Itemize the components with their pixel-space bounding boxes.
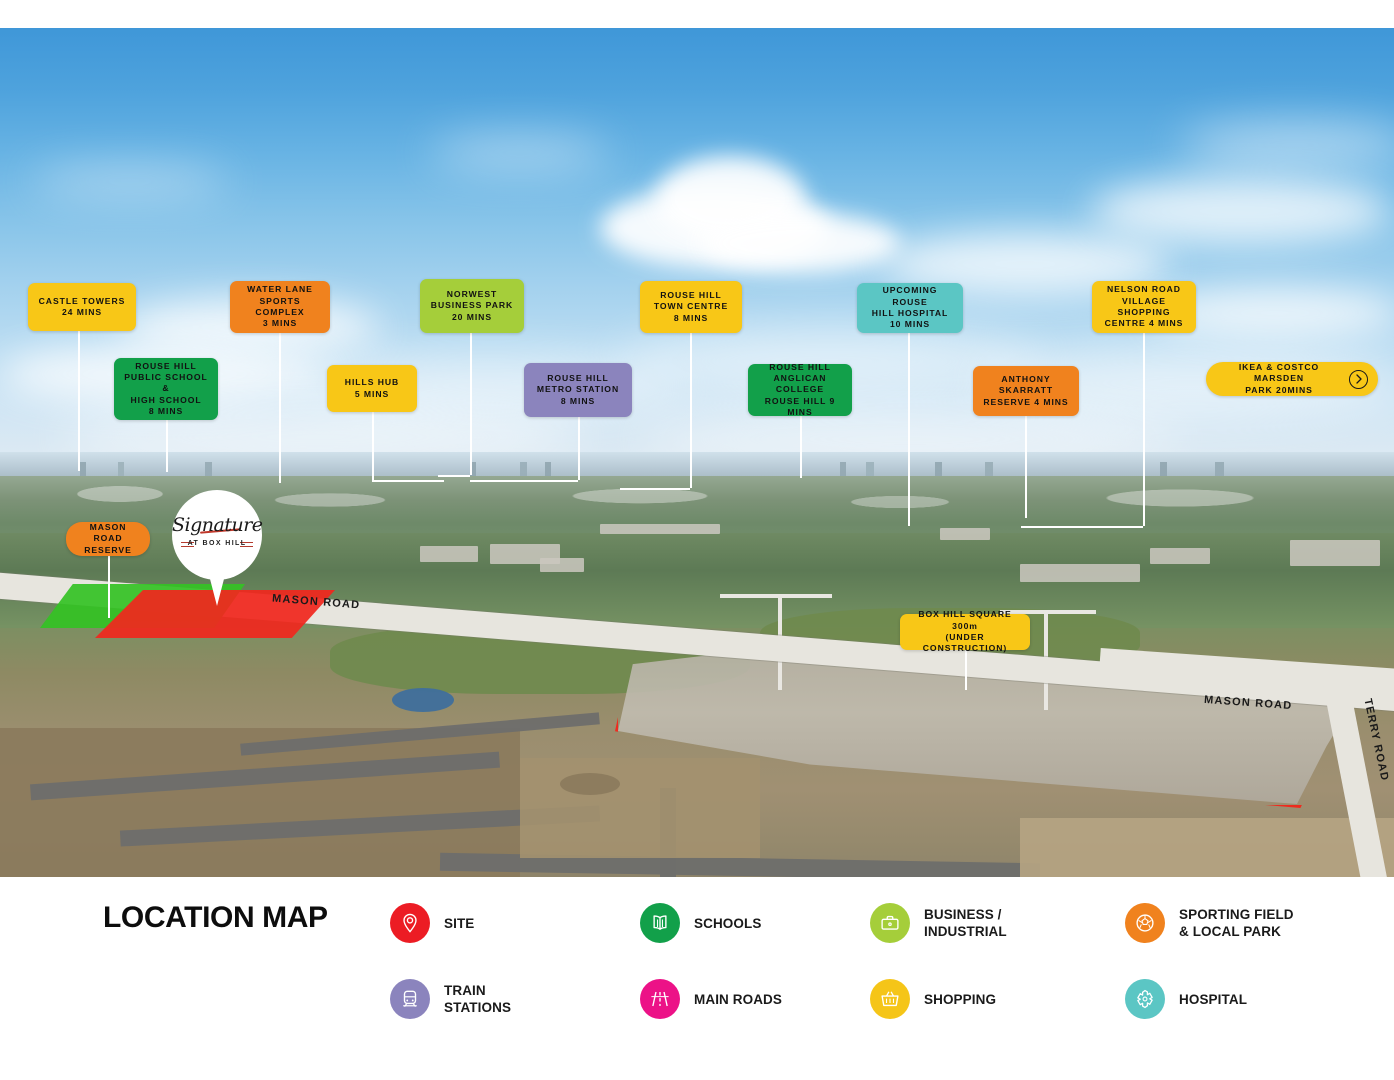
legend-shopping[interactable]: SHOPPING [870, 961, 1125, 1037]
aerial-photo: MASON ROADMASON ROADTERRY ROAD CASTLE TO… [0, 28, 1394, 877]
box-hill-square-label[interactable]: BOX HILL SQUARE 300m (UNDER CONSTRUCTION… [900, 614, 1030, 650]
briefcase-icon [870, 903, 910, 943]
brand-sub-text: AT BOX HILL [172, 540, 262, 547]
building-block [1150, 548, 1210, 564]
rouse-hill-public-high-label[interactable]: ROUSE HILL PUBLIC SCHOOL & HIGH SCHOOL 8… [114, 358, 218, 420]
rouse-hill-metro-station-label[interactable]: ROUSE HILL METRO STATION 8 MINS [524, 363, 632, 417]
hills-hub-label[interactable]: HILLS HUB 5 MINS [327, 365, 417, 412]
map-pin-icon [390, 903, 430, 943]
building-block [540, 558, 584, 572]
hills-hub-leader-line [372, 412, 374, 480]
nelson-road-village-leader-elbow [1021, 526, 1143, 528]
cloud [30, 168, 230, 194]
box-hill-square-label-text: BOX HILL SQUARE 300m (UNDER CONSTRUCTION… [910, 609, 1020, 654]
ikea-costco-label-text: IKEA & COSTCO MARSDEN PARK 20MINS [1216, 362, 1342, 396]
anthony-skarratt-reserve-label-text: ANTHONY SKARRATT RESERVE 4 MINS [983, 374, 1069, 408]
basket-icon [870, 979, 910, 1019]
building-block [600, 524, 720, 534]
castle-towers-label[interactable]: CASTLE TOWERS 24 MINS [28, 283, 136, 331]
rouse-hill-town-centre-label-text: ROUSE HILL TOWN CENTRE 8 MINS [654, 290, 728, 324]
water-lane-sports-complex-label[interactable]: WATER LANE SPORTS COMPLEX 3 MINS [230, 281, 330, 333]
earthworks [520, 758, 760, 858]
book-icon [640, 903, 680, 943]
legend-footer: LOCATION MAP SITESCHOOLSBUSINESS / INDUS… [0, 877, 1394, 1080]
legend-train-stations[interactable]: TRAIN STATIONS [390, 961, 640, 1037]
nelson-road-village-leader-line [1143, 333, 1145, 526]
mason-road-reserve-label-text: MASON ROAD RESERVE [76, 522, 140, 556]
crane-jib [720, 594, 832, 598]
top-margin [0, 0, 1394, 28]
norwest-business-park-label[interactable]: NORWEST BUSINESS PARK 20 MINS [420, 279, 524, 333]
rouse-hill-metro-station-leader-line [578, 417, 580, 480]
castle-towers-leader-line [78, 331, 80, 471]
chevron-right-icon[interactable] [1349, 370, 1368, 389]
cloud [1090, 178, 1390, 244]
site-marker-pin[interactable]: Signature AT BOX HILL [172, 490, 262, 608]
castle-towers-label-text: CASTLE TOWERS 24 MINS [39, 296, 126, 319]
rouse-hill-metro-station-leader-elbow [470, 480, 578, 482]
legend-sporting-field[interactable]: SPORTING FIELD & LOCAL PARK [1125, 885, 1375, 961]
legend-grid: SITESCHOOLSBUSINESS / INDUSTRIALSPORTING… [390, 885, 1380, 1045]
norwest-business-park-leader-elbow [438, 475, 470, 477]
legend-schools[interactable]: SCHOOLS [640, 885, 870, 961]
box-hill-square-leader-line [965, 650, 967, 690]
cloud [430, 138, 610, 168]
rouse-hill-public-high-label-text: ROUSE HILL PUBLIC SCHOOL & HIGH SCHOOL 8… [124, 361, 208, 418]
building-block [1020, 564, 1140, 582]
legend-hospital-text: HOSPITAL [1179, 991, 1247, 1008]
legend-business[interactable]: BUSINESS / INDUSTRIAL [870, 885, 1125, 961]
mason-road-reserve-leader-line [108, 556, 110, 618]
hills-hub-label-text: HILLS HUB 5 MINS [345, 377, 399, 400]
soccer-ball-icon [1125, 903, 1165, 943]
cloud [1180, 123, 1394, 167]
ikea-costco-marsden-park-label[interactable]: IKEA & COSTCO MARSDEN PARK 20MINS [1206, 362, 1378, 396]
rouse-hill-town-centre-leader-elbow [620, 488, 690, 490]
legend-main-roads[interactable]: MAIN ROADS [640, 961, 870, 1037]
water-lane-sports-complex-label-text: WATER LANE SPORTS COMPLEX 3 MINS [240, 284, 320, 329]
norwest-business-park-label-text: NORWEST BUSINESS PARK 20 MINS [431, 289, 513, 323]
rouse-hill-anglican-label-text: ROUSE HILL ANGLICAN COLLEGE ROUSE HILL 9… [758, 362, 842, 419]
page-title: LOCATION MAP [103, 901, 328, 935]
water-lane-sports-complex-leader-line [279, 333, 281, 483]
soil-mound [560, 773, 620, 795]
nelson-road-village-label[interactable]: NELSON ROAD VILLAGE SHOPPING CENTRE 4 MI… [1092, 281, 1196, 333]
norwest-business-park-leader-line [470, 333, 472, 475]
legend-site-text: SITE [444, 915, 474, 932]
legend-schools-text: SCHOOLS [694, 915, 761, 932]
legend-shopping-text: SHOPPING [924, 991, 996, 1008]
legend-site[interactable]: SITE [390, 885, 640, 961]
rouse-hill-anglican-leader-line [800, 416, 802, 478]
pond [392, 688, 454, 712]
legend-hospital[interactable]: HOSPITAL [1125, 961, 1375, 1037]
rouse-hill-anglican-label[interactable]: ROUSE HILL ANGLICAN COLLEGE ROUSE HILL 9… [748, 364, 852, 416]
brand-script-text: Signature [172, 514, 262, 536]
anthony-skarratt-reserve-label[interactable]: ANTHONY SKARRATT RESERVE 4 MINS [973, 366, 1079, 416]
location-map-page: MASON ROADMASON ROADTERRY ROAD CASTLE TO… [0, 0, 1394, 1080]
upcoming-rouse-hill-hospital-leader-line [908, 333, 910, 526]
legend-sporting-field-text: SPORTING FIELD & LOCAL PARK [1179, 906, 1294, 940]
hills-hub-leader-elbow [372, 480, 444, 482]
rouse-hill-town-centre-label[interactable]: ROUSE HILL TOWN CENTRE 8 MINS [640, 281, 742, 333]
legend-main-roads-text: MAIN ROADS [694, 991, 782, 1008]
rouse-hill-metro-station-label-text: ROUSE HILL METRO STATION 8 MINS [537, 373, 619, 407]
upcoming-rouse-hill-hospital-label-text: UPCOMING ROUSE HILL HOSPITAL 10 MINS [867, 285, 953, 330]
legend-business-text: BUSINESS / INDUSTRIAL [924, 906, 1007, 940]
cloud [700, 213, 900, 273]
building-block [1290, 540, 1380, 566]
building-block [940, 528, 990, 540]
train-icon [390, 979, 430, 1019]
mason-road-reserve-label[interactable]: MASON ROAD RESERVE [66, 522, 150, 556]
nelson-road-village-label-text: NELSON ROAD VILLAGE SHOPPING CENTRE 4 MI… [1102, 284, 1186, 329]
upcoming-rouse-hill-hospital-label[interactable]: UPCOMING ROUSE HILL HOSPITAL 10 MINS [857, 283, 963, 333]
anthony-skarratt-reserve-leader-line [1025, 416, 1027, 518]
medical-star-icon [1125, 979, 1165, 1019]
legend-train-stations-text: TRAIN STATIONS [444, 982, 511, 1016]
rouse-hill-town-centre-leader-line [690, 333, 692, 488]
building-block [420, 546, 478, 562]
rouse-hill-public-high-leader-line [166, 420, 168, 472]
road-icon [640, 979, 680, 1019]
earthworks [1020, 818, 1394, 877]
